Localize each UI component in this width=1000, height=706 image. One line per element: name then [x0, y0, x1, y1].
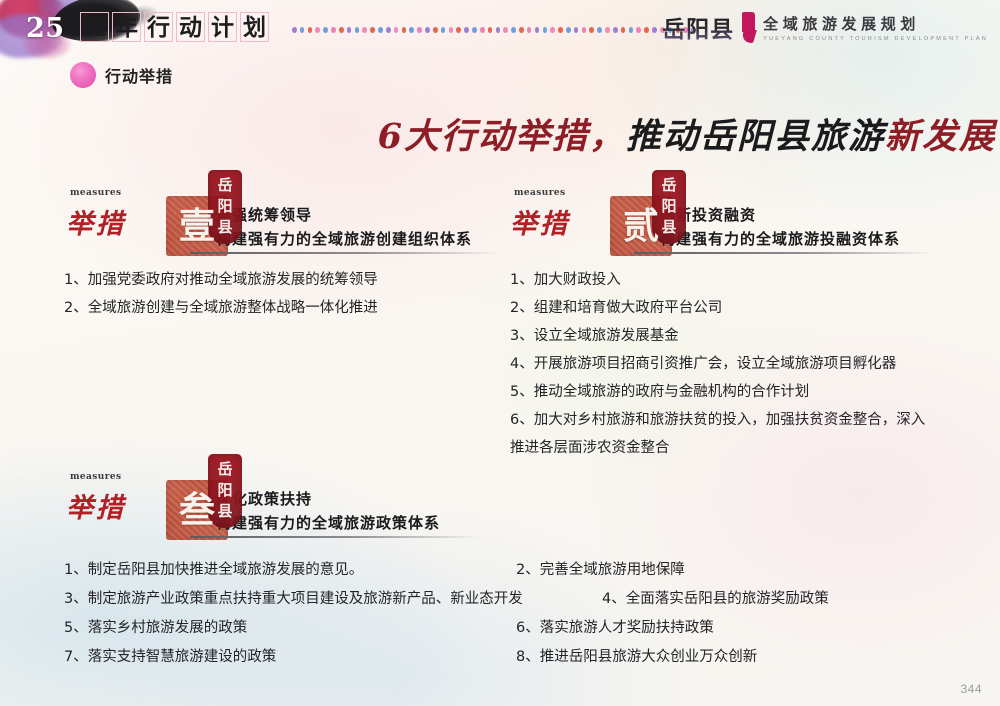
section-label-text: 行动举措 — [105, 63, 173, 87]
section-bullet-icon — [70, 62, 96, 88]
divider-dot — [550, 27, 555, 33]
divider-dot — [300, 27, 305, 33]
divider-dot — [496, 27, 501, 33]
divider-dot — [636, 27, 641, 33]
divider-dot — [441, 27, 446, 33]
measure-seal-group-2: measures 举措 贰 岳 阳 县 — [506, 178, 656, 252]
divider-dot — [480, 27, 485, 33]
page-title-red-tail: 新发展 — [885, 116, 996, 157]
list-item: 1、制定岳阳县加快推进全域旅游发展的意见。 — [64, 556, 516, 585]
divider-dot — [370, 27, 375, 33]
header-title-char-0: 三 — [80, 12, 109, 42]
divider-dot — [511, 27, 516, 33]
divider-dot — [613, 27, 618, 33]
divider-dot — [644, 27, 649, 33]
list-item: 4、开展旅游项目招商引资推广会，设立全域旅游项目孵化器 — [510, 350, 925, 378]
divider-dot — [605, 27, 610, 33]
list-item: 6、落实旅游人才奖励扶持政策 — [516, 614, 954, 643]
measures-cn-label-2: 举措 — [510, 202, 570, 241]
divider-dot — [629, 27, 634, 33]
divider-dot — [362, 27, 367, 33]
list-item: 5、推动全域旅游的政府与金融机构的合作计划 — [510, 378, 925, 406]
measure-divider-2 — [634, 252, 934, 254]
measure-title-line1-1: 加强统筹领导 — [216, 204, 472, 225]
measures-en-label-2: measures — [514, 188, 565, 198]
page-title-black: 推动岳阳县旅游 — [626, 116, 885, 157]
measure-divider-1 — [190, 252, 500, 254]
brand-subtitle-en: YUEYANG COUNTY TOURISM DEVELOPMENT PLAN — [763, 36, 988, 42]
slide-header: 25 三年行动计划 岳阳县 全域旅游发展规划 YUEYANG COUNTY TO… — [0, 0, 1000, 56]
measure-title-line2-2: 构建强有力的全域旅游投融资体系 — [660, 228, 900, 249]
list-item: 1、加强党委政府对推动全域旅游发展的统筹领导 — [64, 266, 378, 294]
divider-dot — [456, 27, 461, 33]
measures-cn-label-3: 举措 — [66, 486, 126, 525]
divider-dot — [574, 27, 579, 33]
divider-dot — [503, 27, 508, 33]
divider-dot — [315, 27, 320, 33]
divider-dot — [386, 27, 391, 33]
list-item: 6、加大对乡村旅游和旅游扶贫的投入，加强扶贫资金整合，深入 — [510, 406, 925, 434]
divider-dot — [652, 27, 657, 33]
section-label: 行动举措 — [70, 62, 173, 88]
divider-dot — [449, 27, 454, 33]
divider-dot — [339, 27, 344, 33]
measure-seal-group-1: measures 举措 壹 岳 阳 县 — [62, 178, 212, 252]
page-number: 344 — [960, 682, 982, 696]
brand-subtitle-cn: 全域旅游发展规划 — [763, 13, 988, 34]
divider-dot — [331, 27, 336, 33]
measure-header-1: measures 举措 壹 岳 阳 县 加强统筹领导 构建强有力的全域旅游创建组… — [62, 178, 472, 252]
divider-dot — [464, 27, 469, 33]
measures-en-label-1: measures — [70, 188, 121, 198]
header-title-char-1: 年 — [112, 12, 141, 42]
page-title: 6大行动举措，推动岳阳县旅游新发展 — [378, 108, 996, 159]
list-item: 1、加大财政投入 — [510, 266, 925, 294]
seal-vertical-text-1: 岳 阳 县 — [208, 174, 242, 240]
divider-dot — [582, 27, 587, 33]
divider-dot — [425, 27, 430, 33]
divider-dot — [527, 27, 532, 33]
header-title-char-5: 划 — [240, 12, 269, 42]
measure-title-group-3: 优化政策扶持 构建强有力的全域旅游政策体系 — [216, 488, 440, 536]
header-title-char-4: 计 — [208, 12, 237, 42]
measure-title-group-1: 加强统筹领导 构建强有力的全域旅游创建组织体系 — [216, 204, 472, 252]
measure-items-2: 1、加大财政投入 2、组建和培育做大政府平台公司 3、设立全域旅游发展基金 4、… — [510, 266, 925, 462]
measure-title-line2-1: 构建强有力的全域旅游创建组织体系 — [216, 228, 472, 249]
list-item: 2、完善全域旅游用地保障 — [516, 556, 954, 585]
divider-dot — [519, 27, 524, 33]
list-item: 8、推进岳阳县旅游大众创业万众创新 — [516, 643, 954, 672]
header-title-char-2: 行 — [144, 12, 173, 42]
seal-vertical-text-3: 岳 阳 县 — [208, 458, 242, 524]
divider-dot — [543, 27, 548, 33]
measure-items-1: 1、加强党委政府对推动全域旅游发展的统筹领导 2、全域旅游创建与全域旅游整体战略… — [64, 266, 378, 322]
divider-dot — [472, 27, 477, 33]
brand-name-cn: 岳阳县 — [662, 10, 734, 44]
measure-title-line1-3: 优化政策扶持 — [216, 488, 440, 509]
slide-number-badge: 25 — [26, 13, 65, 44]
divider-dot — [589, 27, 594, 33]
measures-cn-label-1: 举措 — [66, 202, 126, 241]
measure-title-line1-2: 创新投资融资 — [660, 204, 900, 225]
brand-logo: 岳阳县 全域旅游发展规划 YUEYANG COUNTY TOURISM DEVE… — [662, 6, 988, 48]
divider-dot — [323, 27, 328, 33]
divider-dot — [308, 27, 313, 33]
list-item: 推进各层面涉农资金整合 — [510, 434, 925, 462]
measure-items-3: 1、制定岳阳县加快推进全域旅游发展的意见。 2、完善全域旅游用地保障 3、制定旅… — [64, 556, 954, 672]
header-title-char-3: 动 — [176, 12, 205, 42]
comma-mark-icon — [740, 12, 757, 42]
list-item: 2、全域旅游创建与全域旅游整体战略一体化推进 — [64, 294, 378, 322]
measure-header-3: measures 举措 叁 岳 阳 县 优化政策扶持 构建强有力的全域旅游政策体… — [62, 462, 440, 536]
list-item: 4、全面落实岳阳县的旅游奖励政策 — [516, 585, 954, 614]
divider-dot — [355, 27, 360, 33]
divider-dot — [347, 27, 352, 33]
seal-vertical-text-2: 岳 阳 县 — [652, 174, 686, 240]
divider-dot — [535, 27, 540, 33]
measure-title-group-2: 创新投资融资 构建强有力的全域旅游投融资体系 — [660, 204, 900, 252]
divider-dot — [558, 27, 563, 33]
divider-dot — [417, 27, 422, 33]
divider-dot — [409, 27, 414, 33]
divider-dot — [402, 27, 407, 33]
list-item: 3、设立全域旅游发展基金 — [510, 322, 925, 350]
dotted-divider — [292, 25, 696, 34]
divider-dot — [292, 27, 297, 33]
measure-divider-3 — [190, 536, 480, 538]
divider-dot — [488, 27, 493, 33]
divider-dot — [433, 27, 438, 33]
divider-dot — [621, 27, 626, 33]
measure-seal-group-3: measures 举措 叁 岳 阳 县 — [62, 462, 212, 536]
measure-title-line2-3: 构建强有力的全域旅游政策体系 — [216, 512, 440, 533]
header-title: 三年行动计划 — [80, 12, 271, 42]
page-title-red: 6大行动举措， — [378, 116, 626, 157]
measures-en-label-3: measures — [70, 472, 121, 482]
divider-dot — [394, 27, 399, 33]
divider-dot — [566, 27, 571, 33]
list-item: 5、落实乡村旅游发展的政策 — [64, 614, 516, 643]
divider-dot — [378, 27, 383, 33]
measure-header-2: measures 举措 贰 岳 阳 县 创新投资融资 构建强有力的全域旅游投融资… — [506, 178, 900, 252]
list-item: 7、落实支持智慧旅游建设的政策 — [64, 643, 516, 672]
list-item: 2、组建和培育做大政府平台公司 — [510, 294, 925, 322]
divider-dot — [597, 27, 602, 33]
slide-canvas: 25 三年行动计划 岳阳县 全域旅游发展规划 YUEYANG COUNTY TO… — [0, 0, 1000, 706]
list-item: 3、制定旅游产业政策重点扶持重大项目建设及旅游新产品、新业态开发 — [64, 585, 516, 614]
